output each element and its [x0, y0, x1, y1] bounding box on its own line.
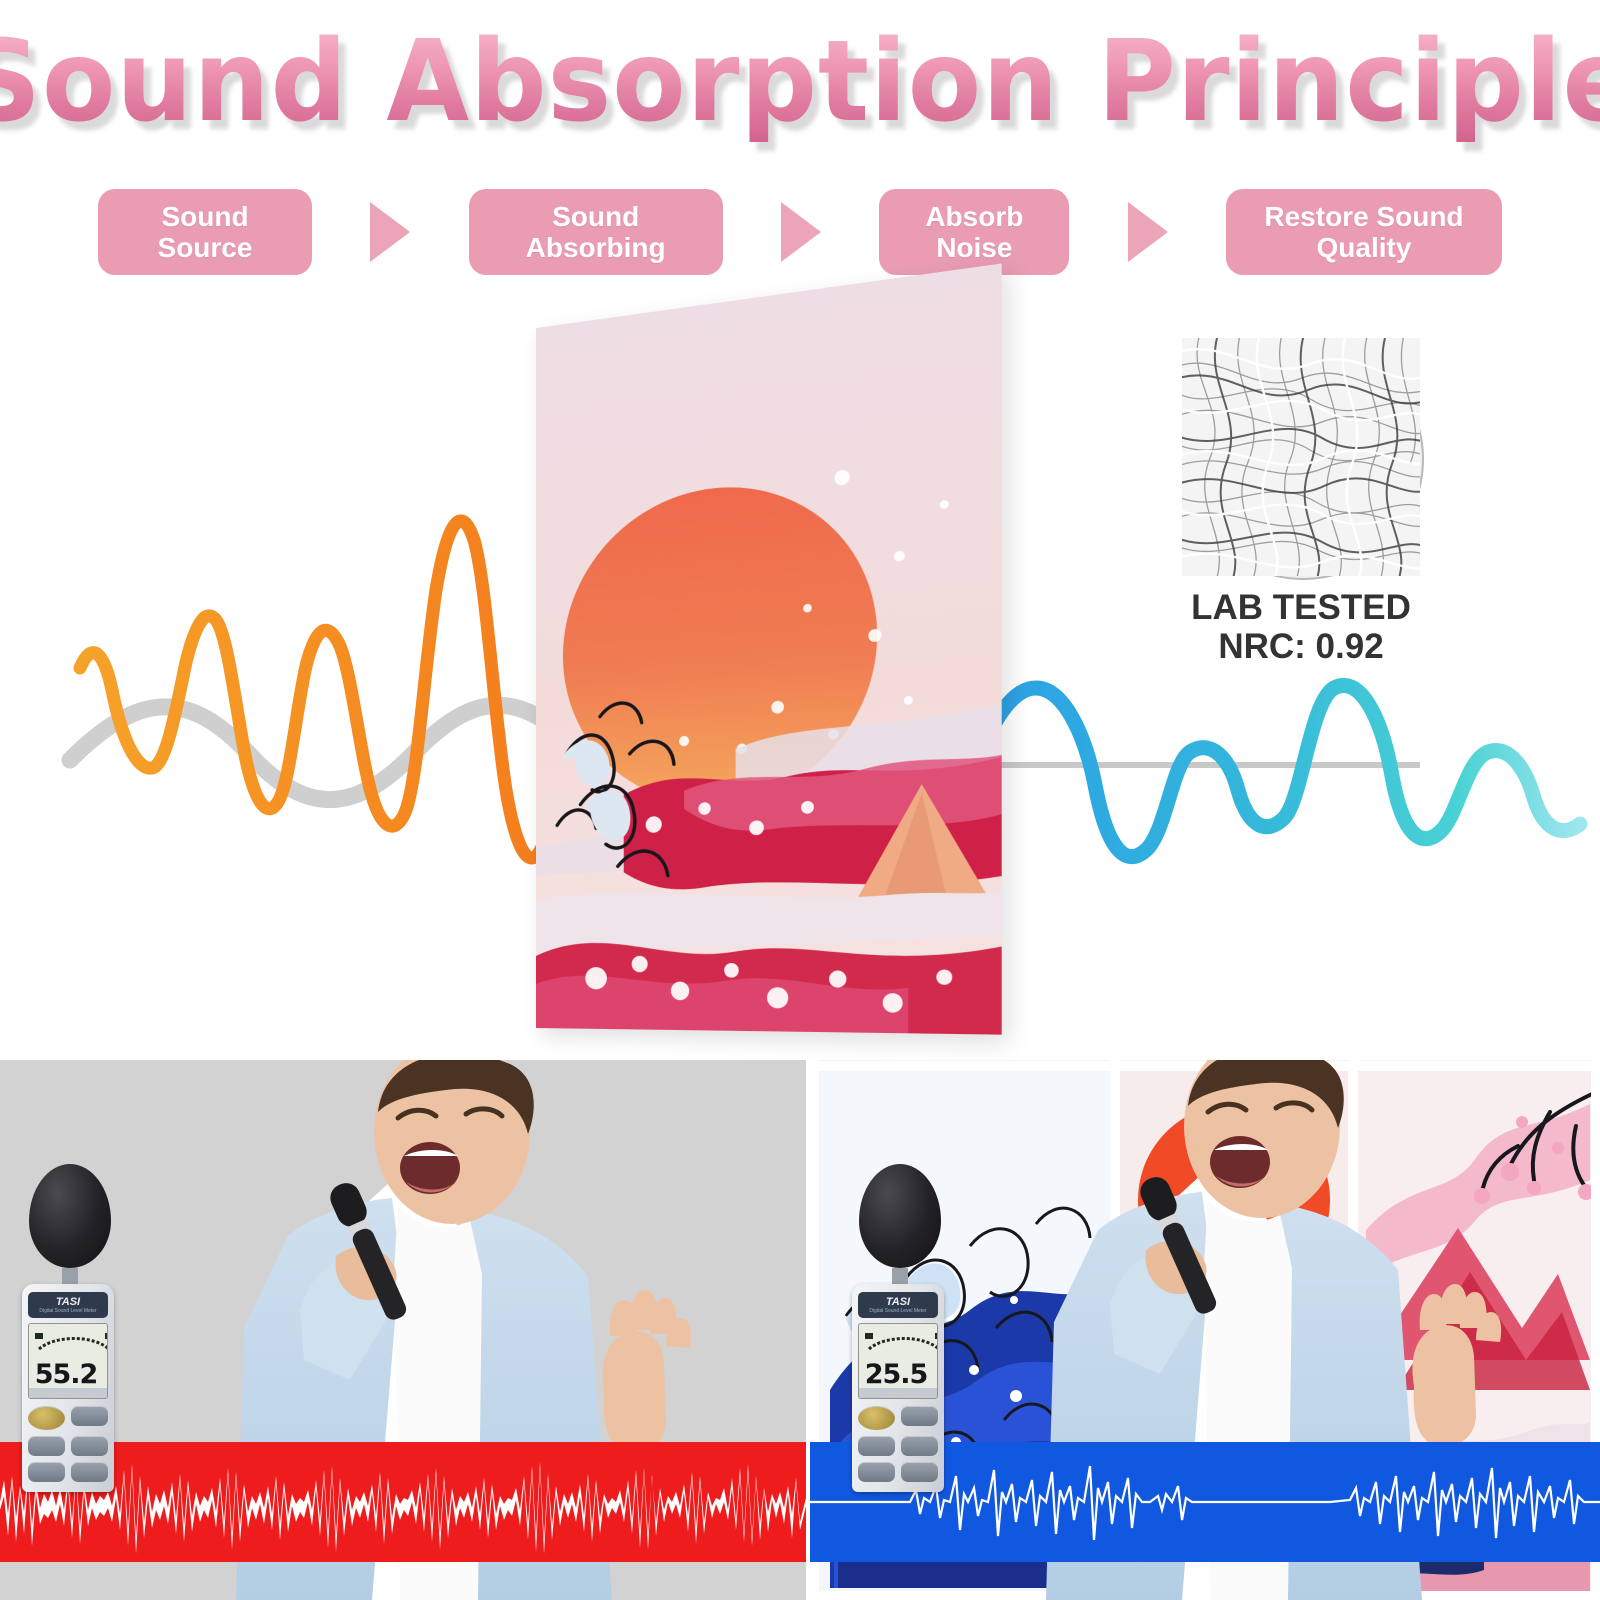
meter-max-key[interactable]: [71, 1436, 108, 1456]
meter-range-key[interactable]: [901, 1406, 938, 1426]
meter-up-key[interactable]: [858, 1436, 895, 1456]
meter-range-key[interactable]: [71, 1406, 108, 1426]
meter-power-key[interactable]: [858, 1406, 895, 1430]
outgoing-absorbed-wave: [968, 685, 1580, 856]
triangle-right-icon: [1128, 202, 1168, 262]
meter-keypad[interactable]: [858, 1406, 938, 1482]
comparison-panels: TASI Digital Sound Level Meter 55.2: [0, 1060, 1600, 1600]
flow-step-label: Restore SoundQuality: [1264, 201, 1463, 264]
meter-hold-key[interactable]: [71, 1462, 108, 1482]
flow-step-label: SoundAbsorbing: [526, 201, 666, 264]
meter-lcd: 55.2: [28, 1323, 108, 1399]
meter-up-key[interactable]: [28, 1436, 65, 1456]
page-title: Sound Absorption Principle: [0, 22, 1600, 142]
meter-brand: TASI: [56, 1297, 80, 1308]
microphone-windscreen-icon: [29, 1164, 111, 1268]
loud-waveform-band: [0, 1442, 806, 1562]
lab-tested-badge: LAB TESTED NRC: 0.92: [1182, 338, 1420, 576]
meter-body: TASI Digital Sound Level Meter 25.5: [852, 1284, 944, 1492]
meter-lcd-footer: [29, 1388, 107, 1398]
meter-bargraph-icon: [865, 1331, 938, 1353]
flow-step-absorb-noise[interactable]: AbsorbNoise: [879, 189, 1069, 275]
comparison-panel-without: TASI Digital Sound Level Meter 55.2: [0, 1060, 806, 1600]
lab-tested-line2: NRC: 0.92: [1136, 627, 1466, 666]
triangle-right-icon: [370, 202, 410, 262]
flow-step-sound-absorbing[interactable]: SoundAbsorbing: [469, 189, 723, 275]
meter-lcd: 25.5: [858, 1323, 938, 1399]
meter-value: 25.5: [859, 1359, 933, 1390]
sound-level-meter-right[interactable]: TASI Digital Sound Level Meter 25.5: [852, 1164, 948, 1492]
process-flow: SoundSource SoundAbsorbing AbsorbNoise R…: [98, 186, 1502, 278]
flow-step-sound-source[interactable]: SoundSource: [98, 189, 312, 275]
lab-tested-text: LAB TESTED NRC: 0.92: [1136, 588, 1466, 666]
meter-lcd-footer: [859, 1388, 937, 1398]
canvas-artwork: [536, 263, 1002, 1034]
lab-tested-line1: LAB TESTED: [1136, 588, 1466, 627]
flow-step-label: AbsorbNoise: [925, 201, 1023, 264]
meter-hold-key[interactable]: [901, 1462, 938, 1482]
comparison-panel-with: TASI Digital Sound Level Meter 25.5: [810, 1060, 1600, 1600]
fiber-texture-micrograph-icon: [1182, 338, 1424, 580]
fiber-texture-svg: [1182, 338, 1420, 576]
canvas-artwork-svg: [536, 263, 1002, 1034]
acoustic-art-canvas-panel[interactable]: [536, 263, 1002, 1034]
triangle-right-icon: [781, 202, 821, 262]
absorption-scene: LAB TESTED NRC: 0.92: [0, 290, 1600, 1060]
meter-value: 55.2: [29, 1359, 103, 1390]
meter-brand-bar: TASI Digital Sound Level Meter: [28, 1292, 108, 1318]
infographic-root: Sound Absorption Principle SoundSource S…: [0, 0, 1600, 1600]
meter-brand-bar: TASI Digital Sound Level Meter: [858, 1292, 938, 1318]
sound-level-meter-left[interactable]: TASI Digital Sound Level Meter 55.2: [22, 1164, 118, 1492]
meter-subtitle: Digital Sound Level Meter: [39, 1309, 96, 1314]
meter-neck: [62, 1268, 78, 1284]
meter-brand: TASI: [886, 1297, 910, 1308]
meter-power-key[interactable]: [28, 1406, 65, 1430]
meter-body: TASI Digital Sound Level Meter 55.2: [22, 1284, 114, 1492]
meter-max-key[interactable]: [901, 1436, 938, 1456]
meter-down-key[interactable]: [858, 1462, 895, 1482]
meter-neck: [892, 1268, 908, 1284]
flow-step-label: SoundSource: [158, 201, 253, 264]
meter-bargraph-icon: [35, 1331, 108, 1353]
meter-subtitle: Digital Sound Level Meter: [869, 1309, 926, 1314]
microphone-windscreen-icon: [859, 1164, 941, 1268]
flow-step-restore-sound-quality[interactable]: Restore SoundQuality: [1226, 189, 1502, 275]
meter-down-key[interactable]: [28, 1462, 65, 1482]
meter-keypad[interactable]: [28, 1406, 108, 1482]
